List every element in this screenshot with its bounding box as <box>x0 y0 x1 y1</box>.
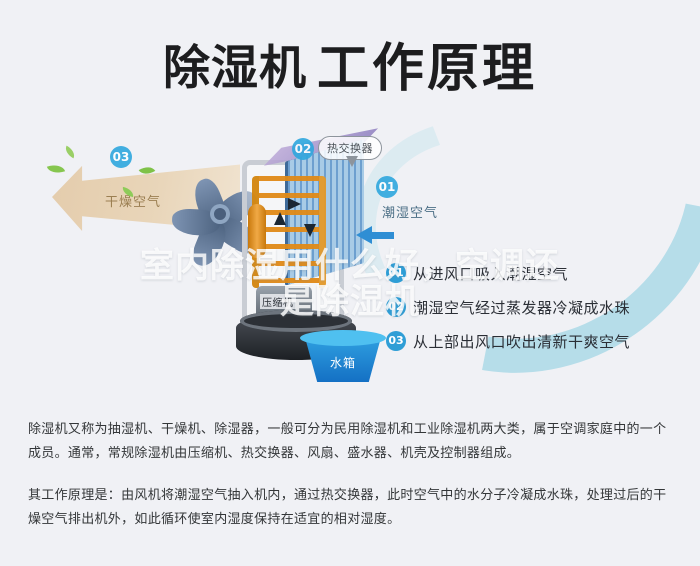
step-item: 03 从上部出风口吹出清新干爽空气 <box>386 324 686 358</box>
step-text: 从上部出风口吹出清新干爽空气 <box>413 331 630 352</box>
page-title-part2: 工作原理 <box>317 39 537 99</box>
flow-arrow-up-icon <box>274 212 286 225</box>
leaf-icon <box>47 162 65 176</box>
page-title: 除湿机工作原理 <box>0 26 700 101</box>
infographic-page: 除湿机工作原理 干燥空气 <box>0 0 700 566</box>
step-number-badge: 03 <box>386 331 406 351</box>
step-number-badge: 02 <box>386 297 406 317</box>
step-number-badge: 01 <box>386 263 406 283</box>
flow-arrow-down-icon <box>304 224 316 237</box>
page-title-part1: 除湿机 <box>163 41 307 96</box>
step-item: 01 从进风口吸入潮湿空气 <box>386 256 686 290</box>
dehumidifier-machine: 压缩机 <box>236 146 366 356</box>
machine-base-rim <box>240 310 352 332</box>
step-text: 潮湿空气经过蒸发器冷凝成水珠 <box>413 297 630 318</box>
step-text: 从进风口吸入潮湿空气 <box>413 263 568 284</box>
compressor-label: 压缩机 <box>260 294 296 309</box>
callout-pointer-icon <box>346 156 358 167</box>
flow-arrow-right-icon <box>288 198 301 210</box>
body-copy: 除湿机又称为抽湿机、干燥机、除湿器，一般可分为民用除湿机和工业除湿机两大类，属于… <box>28 418 676 550</box>
refrigerant-cylinder-icon <box>248 204 266 258</box>
diagram-badge-03: 03 <box>110 146 132 168</box>
humid-air-arrow-icon <box>356 226 372 244</box>
steps-list: 01 从进风口吸入潮湿空气 02 潮湿空气经过蒸发器冷凝成水珠 03 从上部出风… <box>386 256 686 358</box>
water-tank-label: 水箱 <box>330 354 356 371</box>
diagram-badge-01: 01 <box>376 176 398 198</box>
leaf-icon <box>63 146 77 159</box>
water-tank-icon: 水箱 <box>300 330 386 384</box>
paragraph-2: 其工作原理是：由风机将潮湿空气抽入机内，通过热交换器，此时空气中的水分子冷凝成水… <box>28 484 676 532</box>
fan-hub <box>210 204 230 224</box>
humid-air-label: 潮湿空气 <box>382 202 438 221</box>
step-item: 02 潮湿空气经过蒸发器冷凝成水珠 <box>386 290 686 324</box>
humid-air-arrow-tail <box>372 232 394 239</box>
paragraph-1: 除湿机又称为抽湿机、干燥机、除湿器，一般可分为民用除湿机和工业除湿机两大类，属于… <box>28 418 676 466</box>
water-tank-lid <box>300 330 386 346</box>
diagram-badge-02: 02 <box>292 138 314 160</box>
